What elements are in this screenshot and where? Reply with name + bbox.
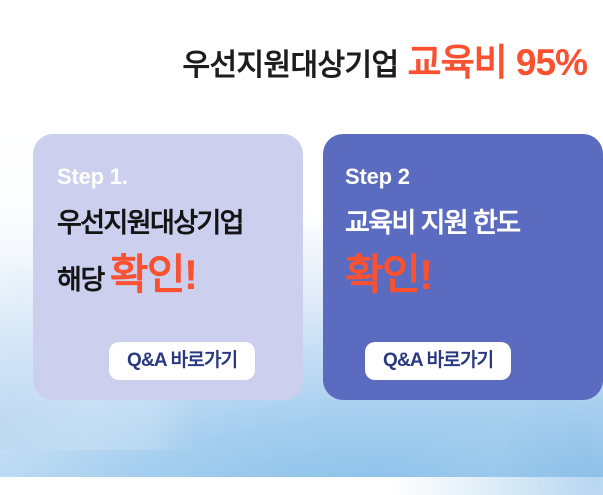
step-card-1[interactable]: Step 1. 우선지원대상기업 해당확인! Q&A 바로가기 <box>33 134 303 400</box>
step-card-2-step-label: Step 2 <box>345 166 585 188</box>
step-card-1-subline-prefix: 해당 <box>57 265 104 295</box>
step-card-1-subline: 해당확인! <box>57 254 285 296</box>
headline-plain-text: 우선지원대상기업 <box>183 49 399 82</box>
step-card-2-subline-accent: 확인! <box>345 251 431 298</box>
step-card-2-headline: 교육비 지원 한도 <box>345 210 585 237</box>
step-card-1-qna-button[interactable]: Q&A 바로가기 <box>109 342 255 380</box>
step-card-2-subline: 확인! <box>345 254 585 296</box>
step-card-2-content: Step 2 교육비 지원 한도 확인! Q&A 바로가기 <box>323 166 603 404</box>
step-card-1-subline-accent: 확인! <box>110 251 196 298</box>
steps-card-group: Step 1. 우선지원대상기업 해당확인! Q&A 바로가기 Step 2 교… <box>0 134 603 400</box>
step-card-1-content: Step 1. 우선지원대상기업 해당확인! Q&A 바로가기 <box>33 166 303 404</box>
page-headline: 우선지원대상기업교육비 95% <box>0 44 587 81</box>
step-card-1-headline: 우선지원대상기업 <box>57 210 285 237</box>
step-card-2[interactable]: Step 2 교육비 지원 한도 확인! Q&A 바로가기 <box>323 134 603 400</box>
step-card-1-step-label: Step 1. <box>57 166 285 188</box>
step-card-2-qna-button[interactable]: Q&A 바로가기 <box>365 342 511 380</box>
headline-accent-text: 교육비 95% <box>408 42 587 83</box>
